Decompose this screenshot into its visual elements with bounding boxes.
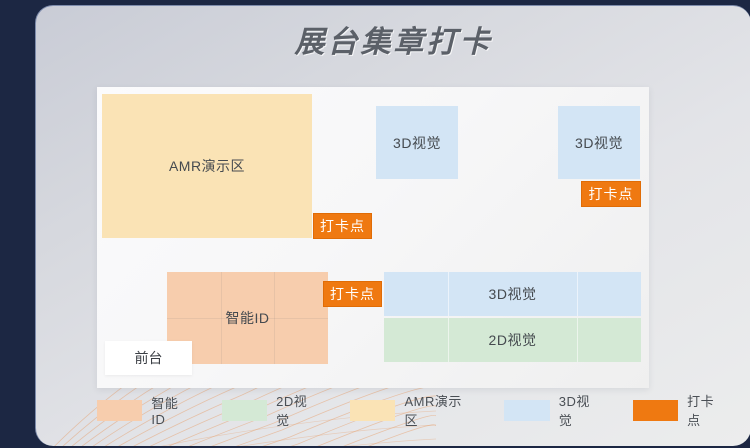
zone-label-3d-vision-top-mid: 3D视觉	[393, 133, 441, 153]
zone-2d-vision-bottom[interactable]: 2D视觉	[384, 318, 641, 362]
legend-label-smart-id: 智能ID	[151, 393, 191, 427]
page-title: 展台集章打卡	[295, 26, 493, 61]
legend-label-checkpoint: 打卡点	[687, 391, 727, 429]
zone-3d-vision-top-mid[interactable]: 3D视觉	[376, 106, 458, 179]
legend-label-2d-vision: 2D视觉	[276, 391, 320, 429]
legend-swatch-smart-id	[97, 400, 142, 421]
zone-divider-vertical	[448, 272, 449, 316]
zone-divider-vertical	[448, 318, 449, 362]
front-desk-text: 前台	[135, 348, 163, 368]
zone-label-2d-vision-bottom: 2D视觉	[489, 330, 537, 350]
legend-swatch-3d-vision	[504, 400, 549, 421]
legend-item-2d-vision: 2D视觉	[222, 391, 320, 429]
legend-item-checkpoint: 打卡点	[633, 391, 727, 429]
zone-label-smart-id: 智能ID	[226, 308, 270, 328]
legend-swatch-checkpoint	[633, 400, 678, 421]
legend-item-3d-vision: 3D视觉	[504, 391, 602, 429]
zone-label-3d-vision-bottom: 3D视觉	[489, 284, 537, 304]
checkpoint-badge-3d-top-right[interactable]: 打卡点	[581, 181, 641, 207]
zone-label-3d-vision-top-right: 3D视觉	[575, 133, 623, 153]
zone-amr-demo[interactable]: AMR演示区	[102, 94, 312, 238]
zone-3d-vision-top-right[interactable]: 3D视觉	[558, 106, 640, 179]
legend: 智能ID 2D视觉 AMR演示区 3D视觉 打卡点	[97, 397, 750, 423]
front-desk-label: 前台	[105, 341, 192, 375]
legend-label-3d-vision: 3D视觉	[559, 391, 603, 429]
main-card: 展台集章打卡 AMR演示区 3D视觉 3D视觉 智能ID	[35, 5, 750, 446]
legend-item-amr-demo: AMR演示区	[350, 391, 474, 429]
page-title-wrap: 展台集章打卡	[36, 26, 750, 61]
legend-label-amr-demo: AMR演示区	[404, 391, 474, 429]
checkpoint-badge-amr[interactable]: 打卡点	[313, 213, 372, 239]
legend-swatch-2d-vision	[222, 400, 267, 421]
checkpoint-badge-smart-id[interactable]: 打卡点	[323, 281, 382, 307]
legend-swatch-amr-demo	[350, 400, 395, 421]
legend-item-smart-id: 智能ID	[97, 393, 192, 427]
zone-3d-vision-bottom[interactable]: 3D视觉	[384, 272, 641, 316]
zone-divider-vertical	[577, 318, 578, 362]
zone-divider-vertical	[577, 272, 578, 316]
zone-label-amr-demo: AMR演示区	[169, 156, 245, 176]
screenshot-root: 展台集章打卡 AMR演示区 3D视觉 3D视觉 智能ID	[0, 0, 750, 448]
